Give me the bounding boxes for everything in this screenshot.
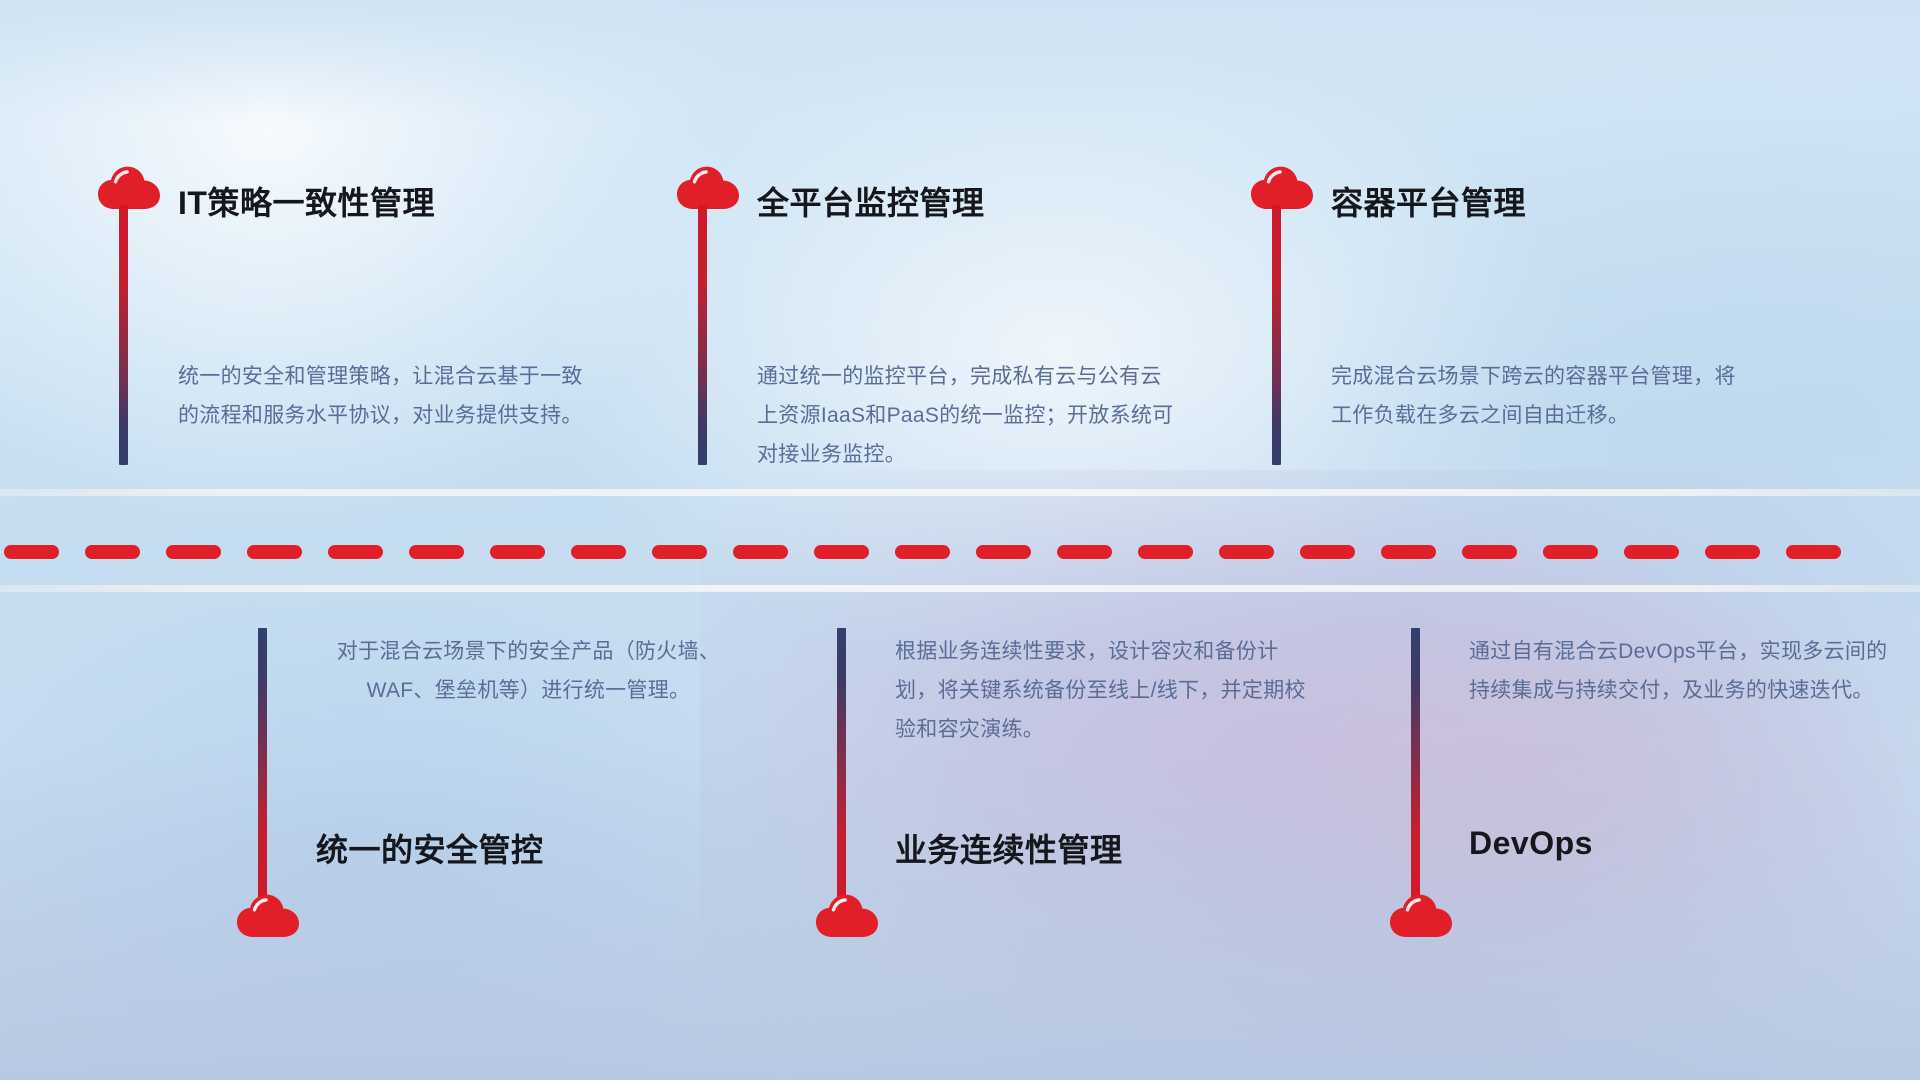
divider-dash [1057,545,1112,559]
top-column-3-body: 完成混合云场景下跨云的容器平台管理，将工作负载在多云之间自由迁移。 [1331,357,1756,435]
divider-dash [4,545,59,559]
stem-connector [119,205,128,465]
divider-dash [976,545,1031,559]
infographic-canvas: IT策略一致性管理 统一的安全和管理策略，让混合云基于一致的流程和服务水平协议，… [0,0,1920,1080]
stem-connector [1411,628,1420,898]
divider-dash [652,545,707,559]
divider-dash [328,545,383,559]
bottom-column-2-body: 根据业务连续性要求，设计容灾和备份计划，将关键系统备份至线上/线下，并定期校验和… [895,632,1320,749]
divider-dash [247,545,302,559]
divider-dash [571,545,626,559]
divider-dashed-line [0,545,1920,559]
cloud-icon [1388,890,1454,940]
bottom-column-3-body: 通过自有混合云DevOps平台，实现多云间的持续集成与持续交付，及业务的快速迭代… [1469,632,1894,710]
bottom-column-2-title: 业务连续性管理 [895,825,1123,871]
divider-dash [1462,545,1517,559]
divider-line-top [0,489,1920,496]
bottom-column-1-title: 统一的安全管控 [316,825,544,871]
divider-dash [85,545,140,559]
cloud-icon [1249,162,1315,212]
bottom-column-3-title: DevOps [1469,825,1593,862]
top-column-1-title: IT策略一致性管理 [178,178,435,224]
cloud-icon [235,890,301,940]
divider-dash [1381,545,1436,559]
bottom-column-1-body: 对于混合云场景下的安全产品（防火墙、WAF、堡垒机等）进行统一管理。 [316,632,741,710]
divider-dash [733,545,788,559]
stem-connector [258,628,267,898]
top-column-2-body: 通过统一的监控平台，完成私有云与公有云上资源IaaS和PaaS的统一监控；开放系… [757,357,1182,474]
divider-dash [1705,545,1760,559]
divider-dash [1786,545,1841,559]
divider-dash [1138,545,1193,559]
divider-dash [490,545,545,559]
divider-dash [1219,545,1274,559]
cloud-icon [675,162,741,212]
stem-connector [1272,205,1281,465]
top-column-1-body: 统一的安全和管理策略，让混合云基于一致的流程和服务水平协议，对业务提供支持。 [178,357,603,435]
divider-dash [1300,545,1355,559]
divider-dash [814,545,869,559]
divider-dash [895,545,950,559]
top-column-3-title: 容器平台管理 [1331,178,1526,224]
divider-line-bottom [0,585,1920,592]
divider-dash [1543,545,1598,559]
stem-connector [698,205,707,465]
stem-connector [837,628,846,898]
cloud-icon [96,162,162,212]
divider-dash [166,545,221,559]
cloud-icon [814,890,880,940]
divider-dash [409,545,464,559]
top-column-2-title: 全平台监控管理 [757,178,985,224]
divider-dash [1624,545,1679,559]
